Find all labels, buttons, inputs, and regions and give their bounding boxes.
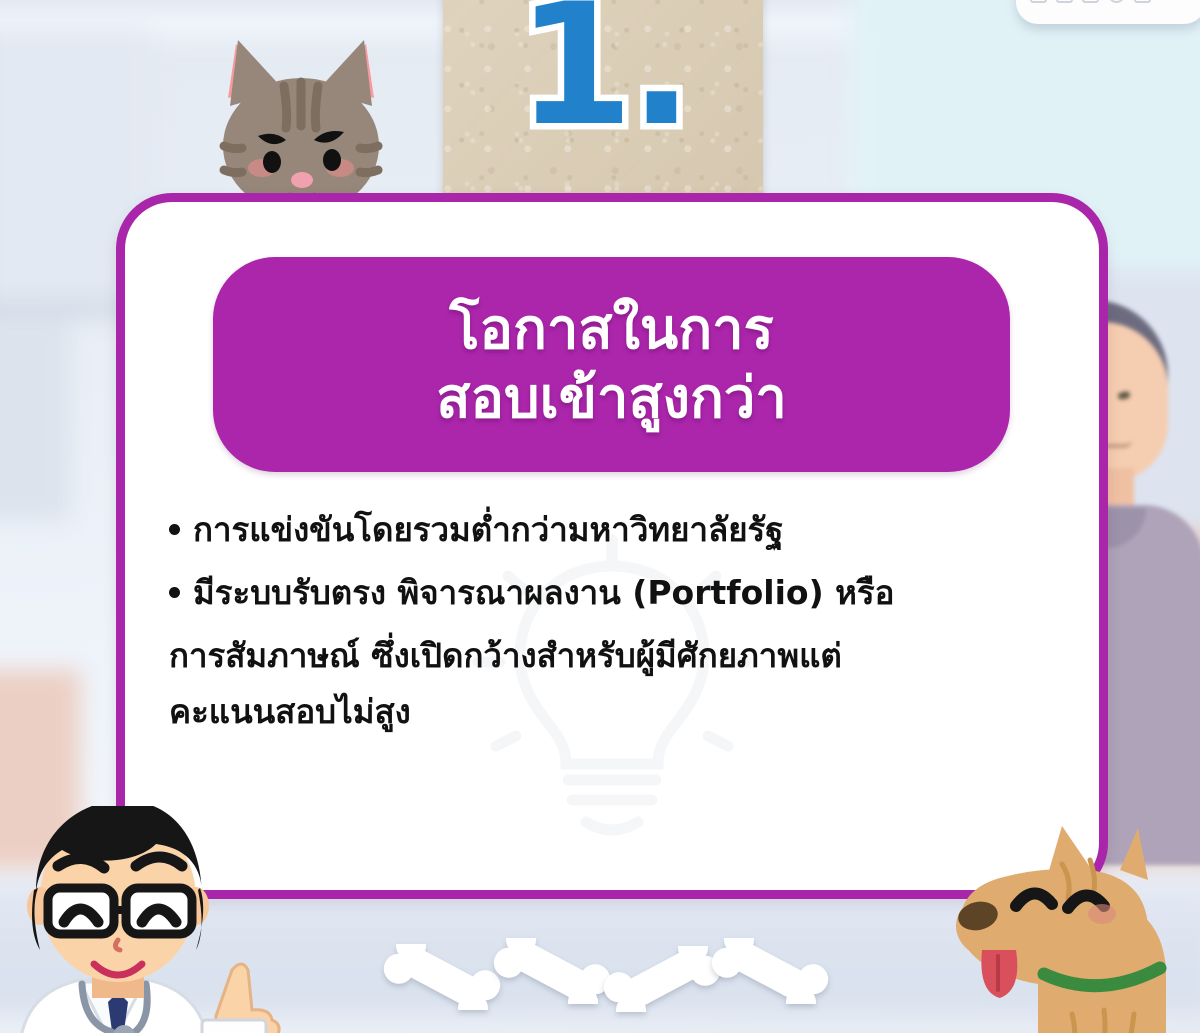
bone-icon	[382, 944, 502, 1010]
top-right-card-icons	[1030, 0, 1151, 3]
bullet-2-line-1: มีระบบรับตรง พิจารณาผลงาน (Portfolio) หร…	[193, 565, 894, 622]
bone-decorations	[390, 938, 820, 1018]
bone-icon	[492, 938, 612, 1004]
bullet-1-line-1: การแข่งขันโดยรวมต่ำกว่ามหาวิทยาลัยรัฐ	[193, 502, 783, 559]
circle-icon	[1108, 0, 1125, 3]
content-card: โอกาสในการ สอบเข้าสูงกว่า การแข่งขันโดยร…	[116, 193, 1108, 899]
list-item: การแข่งขันโดยรวมต่ำกว่ามหาวิทยาลัยรัฐ	[169, 502, 1077, 559]
step-number-tag: 1.	[443, 0, 763, 225]
left-cabinet-lower	[0, 320, 70, 520]
square-icon	[1030, 0, 1047, 3]
title-badge: โอกาสในการ สอบเข้าสูงกว่า	[213, 257, 1010, 472]
list-item: มีระบบรับตรง พิจารณาผลงาน (Portfolio) หร…	[169, 565, 1077, 622]
bullet-dot-icon	[169, 524, 180, 535]
bullet-list: การแข่งขันโดยรวมต่ำกว่ามหาวิทยาลัยรัฐ มี…	[169, 502, 1077, 741]
dog-illustration	[952, 818, 1200, 1033]
bone-icon	[602, 946, 722, 1012]
bone-icon	[710, 938, 830, 1004]
square-icon	[1056, 0, 1073, 3]
bullet-2-line-3: คะแนนสอบไม่สูง	[169, 684, 1077, 741]
slide-canvas: 1. โอกาสในการ	[0, 0, 1200, 1033]
step-number-label: 1.	[443, 0, 763, 190]
bullet-dot-icon	[169, 587, 180, 598]
cat-illustration	[206, 28, 396, 208]
square-icon	[1134, 0, 1151, 3]
bullet-2-line-2: การสัมภาษณ์ ซึ่งเปิดกว้างสำหรับผู้มีศักย…	[169, 628, 1077, 685]
top-right-card[interactable]	[1016, 0, 1200, 24]
square-icon	[1082, 0, 1099, 3]
title-line-2: สอบเข้าสูงกว่า	[436, 365, 787, 433]
doctor-illustration	[0, 806, 286, 1033]
title-line-1: โอกาสในการ	[449, 296, 773, 364]
